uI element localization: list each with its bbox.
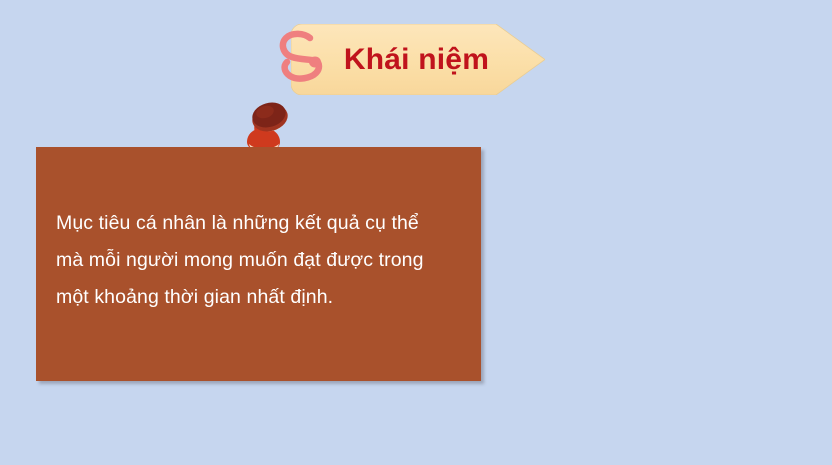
concept-card-text: Mục tiêu cá nhân là những kết quả cụ thể… xyxy=(56,205,468,316)
banner-title: Khái niệm xyxy=(291,24,496,95)
concept-card: Mục tiêu cá nhân là những kết quả cụ thể… xyxy=(36,147,481,381)
title-banner: Khái niệm xyxy=(291,24,545,95)
slide-canvas: Khái niệm Mục tiêu cá nhân là những kết … xyxy=(0,0,832,465)
concept-line-2: mà mỗi người mong muốn đạt được trong xyxy=(56,242,468,279)
concept-line-3: một khoảng thời gian nhất định. xyxy=(56,279,468,316)
concept-line-1: Mục tiêu cá nhân là những kết quả cụ thể xyxy=(56,205,468,242)
